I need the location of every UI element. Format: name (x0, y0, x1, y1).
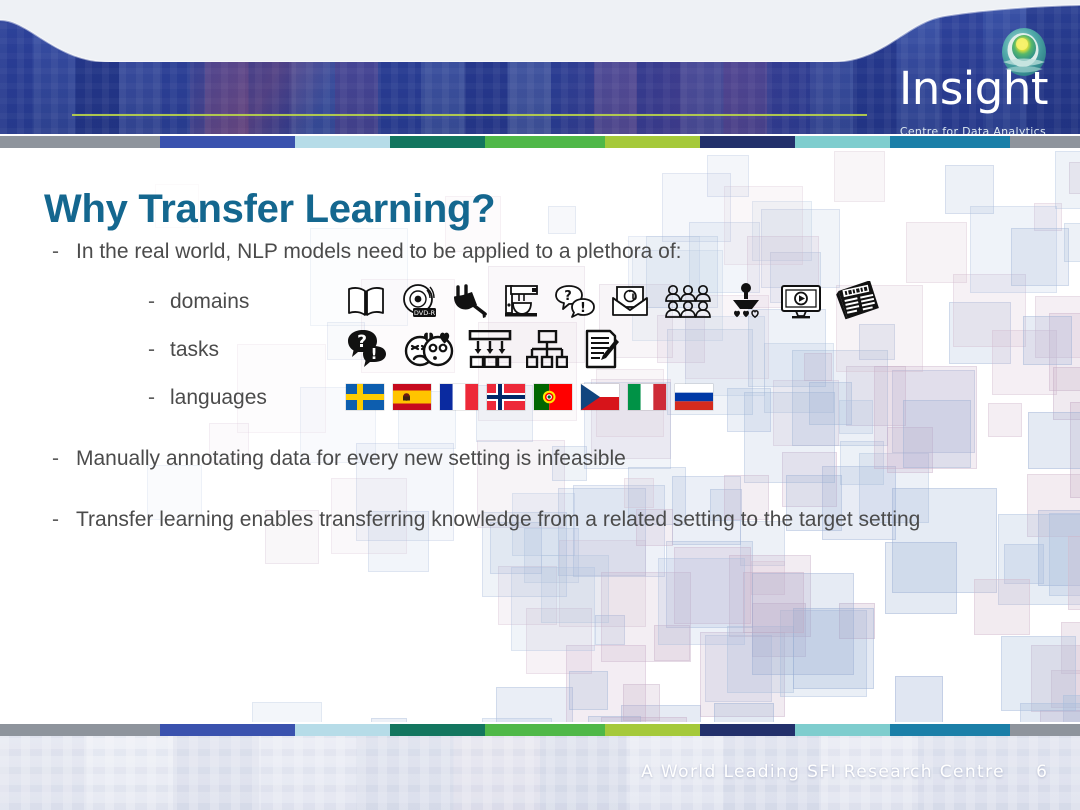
header-accent-line (72, 114, 867, 116)
hierarchy-tree-icon (526, 330, 568, 368)
watermark-square (1001, 636, 1076, 711)
svg-text:!: ! (371, 345, 378, 363)
france-flag (440, 384, 478, 410)
watermark-square (1068, 536, 1080, 610)
watermark-square (526, 608, 592, 674)
watermark-square (752, 573, 854, 675)
watermark-square (482, 718, 552, 722)
sub-item-domains: - domains DVD-R (148, 277, 1030, 325)
watermark-square (621, 705, 701, 722)
norway-flag (487, 384, 525, 410)
color-strip-segment-5 (605, 136, 700, 148)
bullet-marker: - (52, 236, 76, 267)
color-strip-segment-3 (390, 136, 485, 148)
bullet-marker: - (148, 382, 170, 413)
watermark-square (1070, 402, 1080, 498)
insight-logo: Insight Centre for Data Analytics (828, 22, 1058, 128)
watermark-square (1027, 474, 1080, 537)
watermark-square (752, 603, 806, 657)
watermark-square (780, 610, 867, 697)
watermark-square (252, 702, 322, 722)
watermark-square (751, 561, 785, 595)
slide-header-banner: Insight Centre for Data Analytics (0, 0, 1080, 134)
slide: Insight Centre for Data Analytics Why Tr… (0, 0, 1080, 810)
color-strip-segment-5 (605, 724, 700, 736)
newspaper-icon (836, 281, 882, 321)
bullet-transfer-learning-text: Transfer learning enables transferring k… (76, 504, 992, 535)
italy-flag (628, 384, 666, 410)
slide-footer: A World Leading SFI Research Centre 6 (0, 736, 1080, 810)
watermark-square (658, 558, 745, 645)
watermark-square (1035, 296, 1080, 358)
sub-item-languages: - languages (148, 373, 1030, 421)
bullet-manual-annotation: - Manually annotating data for every new… (52, 443, 1030, 474)
watermark-square (945, 165, 994, 214)
color-strip-segment-8 (890, 724, 1010, 736)
watermark-square (511, 567, 595, 651)
watermark-square (834, 151, 885, 202)
watermark-square (595, 615, 625, 645)
watermark-square (1038, 510, 1080, 586)
sub-item-label-domains: domains (170, 286, 346, 317)
russia-flag (675, 384, 713, 410)
color-strip-top (0, 136, 1080, 148)
color-strip-bottom (0, 724, 1080, 736)
watermark-square (700, 632, 785, 717)
video-player-monitor-icon (780, 283, 822, 319)
watermark-square (1063, 695, 1080, 722)
watermark-square (1055, 151, 1080, 209)
watermark-square (496, 687, 573, 722)
color-strip-segment-2 (295, 724, 390, 736)
watermark-square (1051, 670, 1080, 708)
watermark-square (729, 555, 811, 637)
email-at-envelope-icon (610, 284, 650, 318)
watermark-square (1069, 162, 1080, 194)
watermark-square (666, 541, 753, 628)
insight-logo-tagline: Centre for Data Analytics (900, 125, 1046, 134)
sub-item-label-languages: languages (170, 382, 346, 413)
color-strip-segment-8 (890, 136, 1010, 148)
watermark-square (1049, 313, 1080, 391)
watermark-square (371, 718, 407, 722)
sentiment-faces-icon (404, 330, 454, 368)
watermark-square (974, 579, 1030, 635)
slide-body: - In the real world, NLP models need to … (0, 236, 1030, 535)
sub-item-tasks: - tasks ? ! (148, 325, 1030, 373)
bullet-transfer-learning: - Transfer learning enables transferring… (52, 504, 992, 535)
sub-item-label-tasks: tasks (170, 334, 346, 365)
footer-page-number: 6 (1036, 762, 1047, 782)
footer-tagline: A World Leading SFI Research Centre (641, 762, 1005, 782)
bullet-marker: - (52, 504, 76, 535)
watermark-square (1020, 703, 1080, 722)
svg-text:DVD-R: DVD-R (414, 309, 436, 317)
watermark-square (601, 572, 691, 662)
color-strip-segment-1 (160, 136, 295, 148)
bullet-intro-text: In the real world, NLP models need to be… (76, 236, 1030, 267)
color-strip-segment-3 (390, 724, 485, 736)
group-of-people-icon (664, 284, 712, 318)
domain-icon-row: DVD-R (346, 281, 882, 321)
watermark-square (548, 206, 576, 234)
question-answer-bubbles-icon: ? ! (554, 284, 596, 318)
color-strip-segment-0 (0, 724, 160, 736)
watermark-square (674, 547, 751, 624)
watermark-square (1053, 367, 1080, 420)
stand-mixer-icon (502, 283, 540, 319)
dvd-r-disc-icon: DVD-R (400, 283, 438, 319)
watermark-square (705, 635, 772, 702)
watermark-square (654, 625, 690, 661)
bullet-intro: - In the real world, NLP models need to … (52, 236, 1030, 267)
bullet-manual-annotation-text: Manually annotating data for every new s… (76, 443, 1030, 474)
open-book-icon (346, 284, 386, 318)
watermark-square (1028, 412, 1080, 469)
watermark-square (569, 671, 608, 710)
color-strip-segment-4 (485, 136, 605, 148)
watermark-square (1023, 316, 1072, 365)
sweden-flag (346, 384, 384, 410)
czech-republic-flag (581, 384, 619, 410)
document-edit-pen-icon (582, 329, 620, 369)
watermark-square (1031, 645, 1080, 712)
watermark-square (601, 717, 687, 722)
language-flag-row (346, 384, 713, 410)
watermark-square (1004, 544, 1044, 584)
power-plug-icon (452, 284, 488, 318)
watermark-square (588, 716, 641, 722)
insight-logo-wordmark: Insight (899, 66, 1048, 111)
watermark-square (1049, 513, 1080, 596)
watermark-square (662, 173, 731, 242)
watermark-square (1034, 203, 1062, 231)
color-strip-segment-9 (1010, 724, 1080, 736)
distribution-arrows-icon (468, 330, 512, 368)
page-title: Why Transfer Learning? (44, 187, 495, 232)
color-strip-segment-7 (795, 136, 890, 148)
color-strip-segment-4 (485, 724, 605, 736)
color-strip-segment-9 (1010, 136, 1080, 148)
color-strip-segment-6 (700, 724, 795, 736)
spain-flag (393, 384, 431, 410)
watermark-square (623, 684, 660, 721)
svg-text:?: ? (564, 289, 572, 304)
color-strip-segment-0 (0, 136, 160, 148)
joystick-hearts-icon (726, 283, 766, 319)
watermark-square (707, 155, 749, 197)
watermark-square (895, 676, 943, 722)
portugal-flag (534, 384, 572, 410)
color-strip-segment-1 (160, 724, 295, 736)
watermark-square (559, 540, 646, 627)
watermark-square (727, 626, 794, 693)
watermark-square (839, 603, 875, 639)
watermark-square (885, 542, 957, 614)
watermark-square (524, 528, 579, 583)
watermark-square (1064, 223, 1080, 262)
watermark-square (566, 645, 646, 722)
watermark-square (541, 555, 609, 623)
color-strip-segment-7 (795, 724, 890, 736)
task-icon-row: ? ! (346, 329, 620, 369)
question-exclamation-bubbles-icon: ? ! (346, 329, 390, 369)
watermark-square (498, 566, 557, 625)
color-strip-segment-6 (700, 136, 795, 148)
watermark-square (1040, 710, 1080, 722)
watermark-square (743, 572, 804, 633)
bullet-marker: - (148, 334, 170, 365)
bullet-marker: - (52, 443, 76, 474)
watermark-square (1061, 622, 1080, 674)
svg-text:!: ! (580, 301, 586, 316)
bullet-marker: - (148, 286, 170, 317)
color-strip-segment-2 (295, 136, 390, 148)
watermark-square (714, 703, 774, 722)
watermark-square (793, 608, 874, 689)
